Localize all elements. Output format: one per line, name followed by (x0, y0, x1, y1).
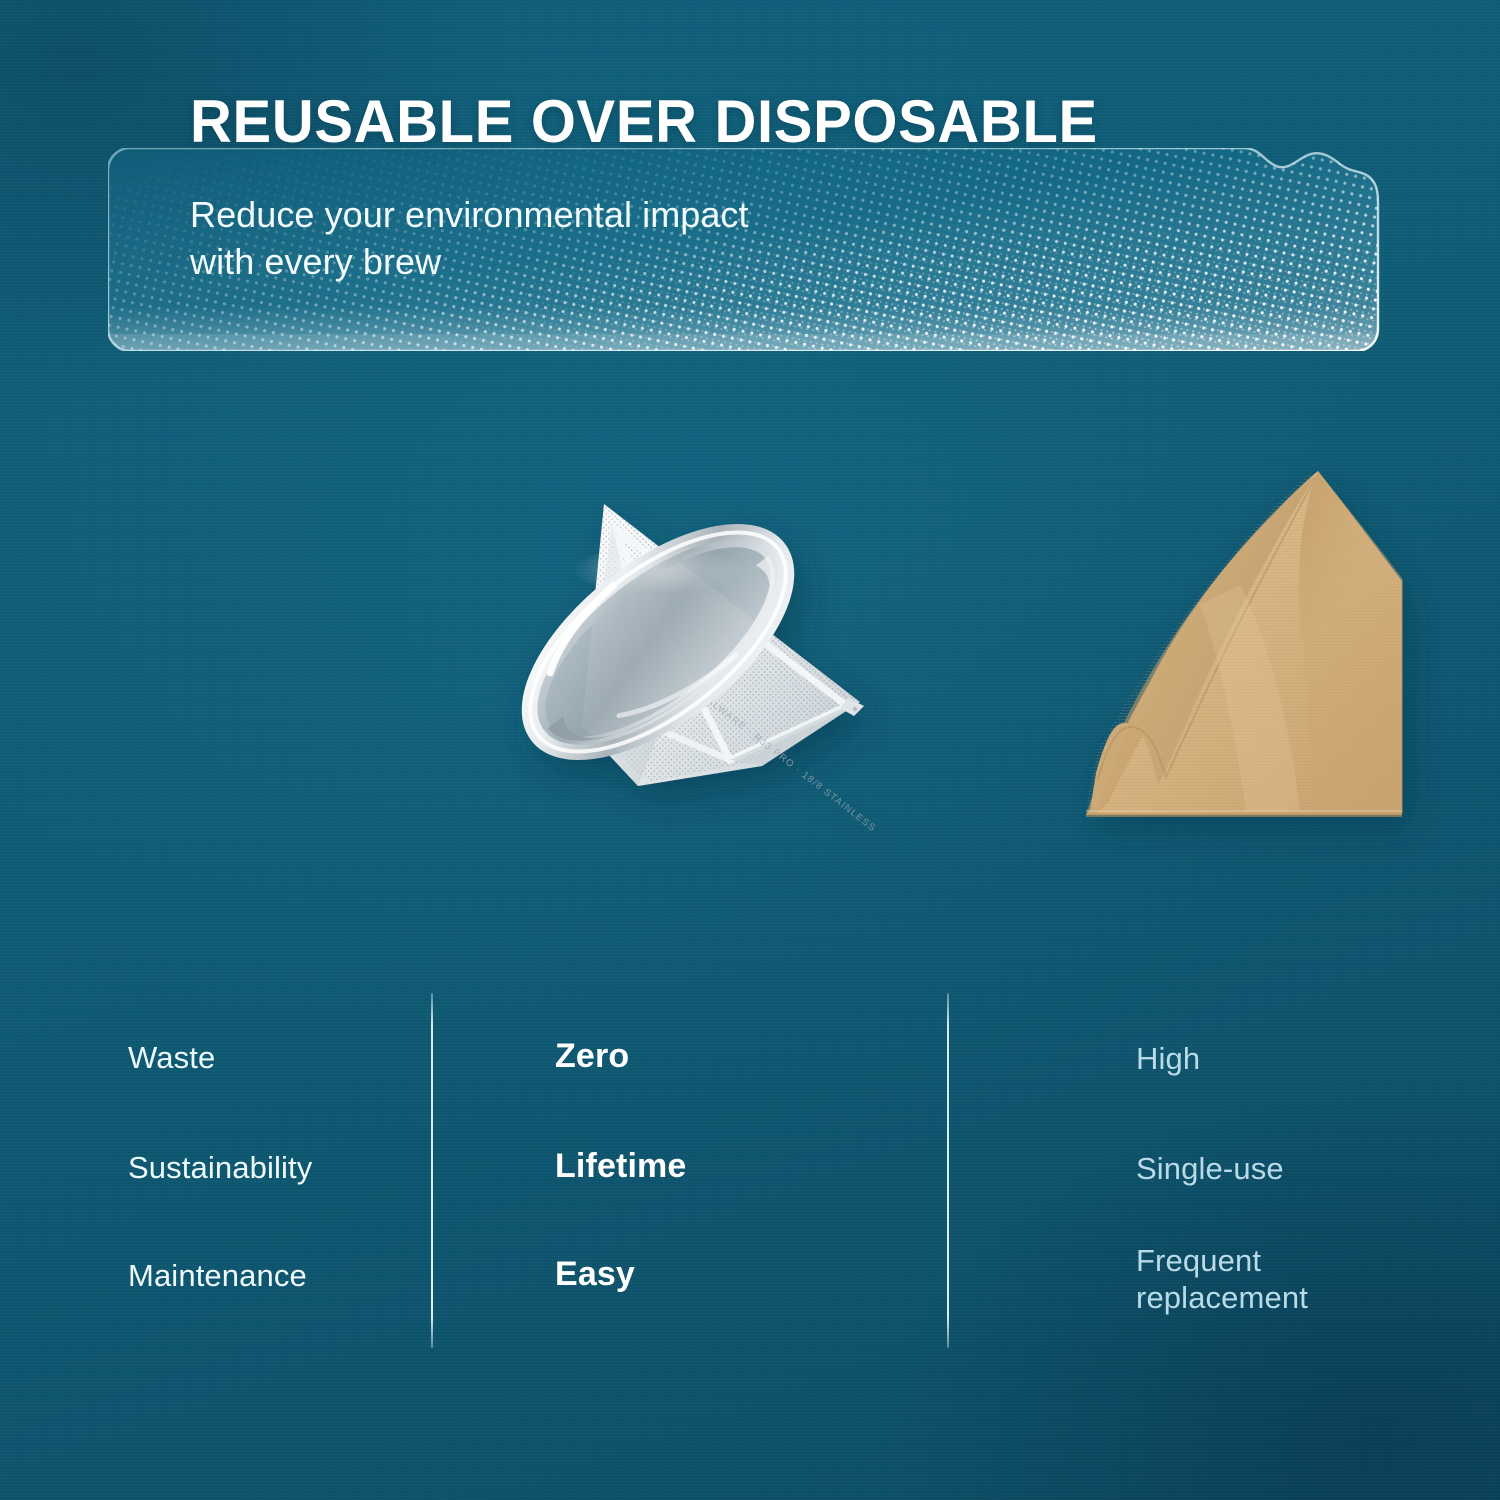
subtitle-line-1: Reduce your environmental impact (190, 192, 990, 239)
disposable-paper-filter-image (1000, 455, 1420, 840)
reusable-steel-filter-image: OVALWARE · RJ3 PRO · 18/8 STAINLESS (462, 430, 907, 845)
reusable-value-waste: Zero (555, 1036, 629, 1076)
disposable-value-waste: High (1136, 1040, 1200, 1077)
reusable-value-maintenance: Easy (555, 1254, 635, 1294)
column-divider-right (947, 993, 949, 1348)
disposable-value-maintenance-line-2: replacement (1136, 1279, 1308, 1316)
comparison-label-sustainability: Sustainability (128, 1150, 312, 1187)
page-title: REUSABLE OVER DISPOSABLE (190, 92, 1098, 152)
reusable-value-sustainability: Lifetime (555, 1146, 686, 1186)
column-divider-left (431, 993, 433, 1348)
disposable-value-maintenance: Frequent replacement (1136, 1242, 1308, 1316)
comparison-label-waste: Waste (128, 1040, 215, 1077)
comparison-label-maintenance: Maintenance (128, 1258, 307, 1295)
page-subtitle: Reduce your environmental impact with ev… (190, 192, 990, 286)
subtitle-line-2: with every brew (190, 239, 990, 286)
disposable-value-maintenance-line-1: Frequent (1136, 1242, 1308, 1279)
disposable-value-sustainability: Single-use (1136, 1150, 1284, 1187)
promo-graphic: REUSABLE OVER DISPOSABLE Reduce your env… (0, 0, 1500, 1500)
